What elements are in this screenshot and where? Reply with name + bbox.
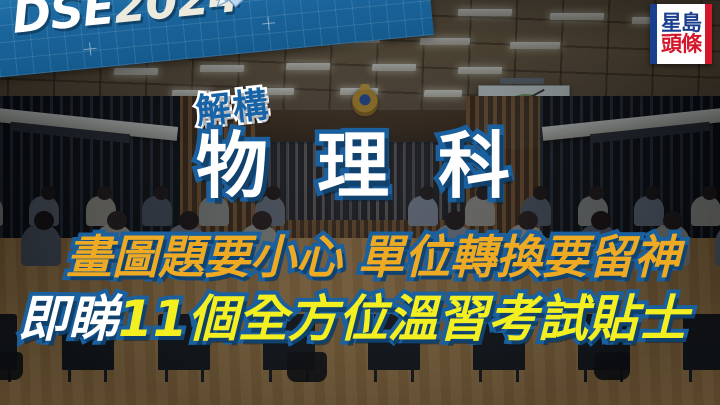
headline-subline-2-yellow: 11個全方位溫習考試貼士 <box>118 290 688 348</box>
headline-subline-1: 畫圖題要小心 單位轉換要留神 <box>66 234 680 280</box>
logo-bar-left <box>650 4 657 64</box>
logo-text-wrap: 星島 頭條 <box>657 4 705 64</box>
logo-bar-right <box>705 4 712 64</box>
logo-text-bottom: 頭條 <box>661 34 701 55</box>
sing-tao-headline-logo[interactable]: 星島 頭條 <box>650 4 712 64</box>
headline-title: 物 理 科 <box>196 130 522 202</box>
pencil-ruler-icon <box>207 0 251 15</box>
thumbnail-canvas: 12:23:41 <box>0 0 720 405</box>
sparkle-icon <box>261 16 275 30</box>
headline-subline-2-white: 即睇 <box>18 290 118 348</box>
sparkle-icon <box>83 42 97 56</box>
headline-subline-2: 即睇11個全方位溫習考試貼士 <box>18 294 688 344</box>
logo-text-top: 星島 <box>661 13 701 34</box>
